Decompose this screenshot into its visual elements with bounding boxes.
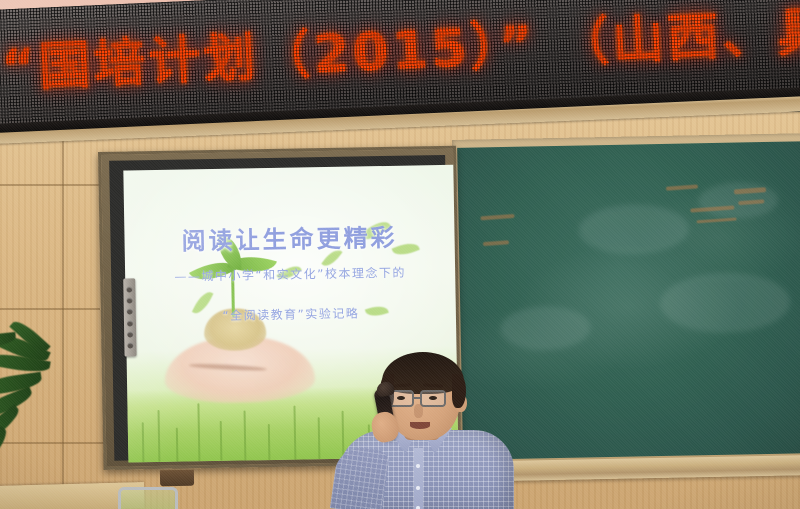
grass-blade — [197, 403, 200, 461]
potted-plant — [0, 336, 106, 486]
presenter-nose — [414, 404, 423, 418]
presenter-eye — [397, 396, 405, 400]
whiteboard-mount-bracket — [160, 470, 194, 487]
wall-panel-seam — [0, 308, 100, 310]
photo-scene: 阅读让生命更精彩 ——城中小学“和实文化”校本理念下的 “全阅读教育”实验记略 — [0, 0, 800, 509]
whiteboard-button[interactable] — [127, 331, 133, 337]
whiteboard-button[interactable] — [126, 287, 132, 293]
presenter — [330, 352, 520, 509]
chalk-residue-mark — [480, 214, 514, 220]
presenter-mouth — [410, 422, 430, 429]
grass-blade — [293, 406, 296, 460]
shirt-button — [416, 464, 420, 468]
shirt-placket — [414, 448, 423, 509]
shirt-button — [416, 486, 420, 490]
plant-frond — [0, 426, 11, 467]
grass-blade — [176, 428, 179, 462]
presenter-eye — [429, 396, 437, 400]
grass-blade — [220, 421, 223, 461]
chalk-smudge — [500, 305, 591, 351]
grass-blade — [244, 410, 247, 460]
grass-blade — [318, 417, 321, 459]
chalk-residue-mark — [483, 240, 509, 246]
metal-frame-chair — [118, 487, 178, 509]
grass-blade — [268, 424, 271, 460]
presenter-hair-side — [452, 374, 466, 408]
chalk-residue-mark — [697, 218, 737, 224]
chalk-residue-mark — [666, 184, 698, 190]
slide-title: 阅读让生命更精彩 — [124, 217, 455, 258]
eyeglasses-bridge — [414, 397, 420, 399]
whiteboard-button[interactable] — [127, 342, 133, 348]
wall-panel-seam — [0, 184, 100, 186]
chalk-smudge — [660, 272, 791, 334]
whiteboard-button[interactable] — [127, 320, 133, 326]
whiteboard-button[interactable] — [127, 298, 133, 304]
whiteboard-button-strip[interactable] — [123, 278, 136, 356]
presenter-arm — [330, 445, 390, 509]
grass-blade — [158, 410, 161, 462]
grass-blade — [142, 422, 145, 462]
chalk-smudge — [578, 203, 689, 255]
whiteboard-button[interactable] — [127, 309, 133, 315]
